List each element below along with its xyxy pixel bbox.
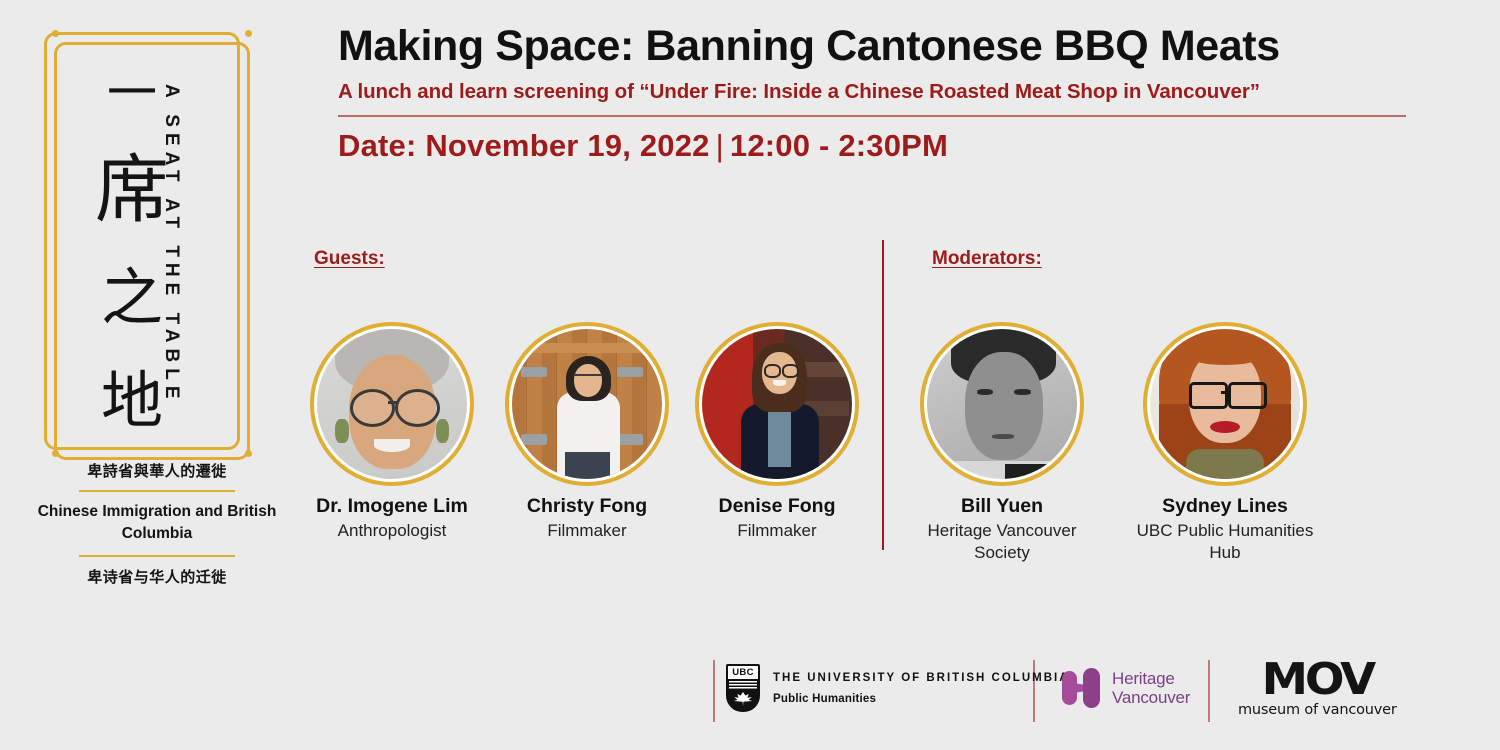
poster-header: Making Space: Banning Cantonese BBQ Meat… bbox=[338, 22, 1408, 164]
avatar-photo-imogene-lim bbox=[317, 329, 467, 479]
ubc-crest-text: UBC bbox=[732, 667, 753, 678]
person-role: Anthropologist bbox=[297, 520, 487, 541]
avatar bbox=[310, 322, 474, 486]
avatar bbox=[920, 322, 1084, 486]
ubc-university-name: THE UNIVERSITY OF BRITISH COLUMBIA bbox=[773, 672, 1070, 684]
mov-wordmark: MOV bbox=[1233, 660, 1401, 700]
logo-subtitle-simplified: 卑诗省与华人的迁徙 bbox=[12, 566, 302, 587]
footer-divider-right bbox=[1208, 660, 1210, 722]
ubc-logo: UBC THE UNIVERSITY OF BRITISH COLUMBIA P… bbox=[726, 664, 1070, 712]
ubc-crest-icon: UBC bbox=[726, 664, 760, 712]
logo-char-1: 一 bbox=[107, 68, 157, 118]
page-title: Making Space: Banning Cantonese BBQ Meat… bbox=[338, 22, 1408, 71]
frame-dot-top-left bbox=[52, 30, 59, 37]
event-datetime: Date: November 19, 2022|12:00 - 2:30PM bbox=[338, 128, 1408, 164]
avatar bbox=[1143, 322, 1307, 486]
person-role: Heritage Vancouver Society bbox=[907, 520, 1097, 563]
person-name: Sydney Lines bbox=[1130, 495, 1320, 518]
person-role: UBC Public Humanities Hub bbox=[1130, 520, 1320, 563]
avatar bbox=[695, 322, 859, 486]
person-card: Sydney Lines UBC Public Humanities Hub bbox=[1130, 322, 1320, 563]
ubc-unit-name: Public Humanities bbox=[773, 693, 1070, 705]
avatar-photo-sydney-lines bbox=[1150, 329, 1300, 479]
avatar bbox=[505, 322, 669, 486]
moderators-heading: Moderators: bbox=[932, 248, 1042, 270]
person-name: Christy Fong bbox=[492, 495, 682, 518]
heritage-vancouver-text: Heritage Vancouver bbox=[1112, 669, 1190, 707]
event-poster: 一 席 之 地 A SEAT AT THE TABLE 卑詩省與華人的遷徙 Ch… bbox=[0, 0, 1500, 750]
person-card: Denise Fong Filmmaker bbox=[682, 322, 872, 542]
datetime-separator: | bbox=[710, 128, 730, 163]
event-time: 12:00 - 2:30PM bbox=[730, 128, 948, 163]
avatar-photo-denise-fong bbox=[702, 329, 852, 479]
footer-logos: UBC THE UNIVERSITY OF BRITISH COLUMBIA P… bbox=[0, 648, 1500, 744]
footer-divider-left bbox=[713, 660, 715, 722]
person-card: Dr. Imogene Lim Anthropologist bbox=[297, 322, 487, 542]
frame-dot-top-right bbox=[245, 30, 252, 37]
people-row: Dr. Imogene Lim Anthropologist Christy F… bbox=[0, 322, 1500, 562]
header-divider bbox=[338, 115, 1406, 117]
heritage-line-1: Heritage bbox=[1112, 669, 1190, 688]
person-role: Filmmaker bbox=[682, 520, 872, 541]
event-date: Date: November 19, 2022 bbox=[338, 128, 710, 163]
heritage-line-2: Vancouver bbox=[1112, 688, 1190, 707]
person-name: Denise Fong bbox=[682, 495, 872, 518]
museum-of-vancouver-logo: MOV museum of vancouver bbox=[1238, 660, 1397, 718]
person-card: Christy Fong Filmmaker bbox=[492, 322, 682, 542]
ubc-logo-text: THE UNIVERSITY OF BRITISH COLUMBIA Publi… bbox=[773, 672, 1070, 705]
person-card: Bill Yuen Heritage Vancouver Society bbox=[907, 322, 1097, 563]
heritage-h-icon bbox=[1062, 668, 1102, 708]
heritage-vancouver-logo: Heritage Vancouver bbox=[1062, 668, 1190, 708]
person-name: Dr. Imogene Lim bbox=[297, 495, 487, 518]
person-role: Filmmaker bbox=[492, 520, 682, 541]
avatar-photo-bill-yuen bbox=[927, 329, 1077, 479]
avatar-photo-christy-fong bbox=[512, 329, 662, 479]
page-subtitle: A lunch and learn screening of “Under Fi… bbox=[338, 79, 1408, 105]
person-name: Bill Yuen bbox=[907, 495, 1097, 518]
guests-heading: Guests: bbox=[314, 248, 385, 270]
